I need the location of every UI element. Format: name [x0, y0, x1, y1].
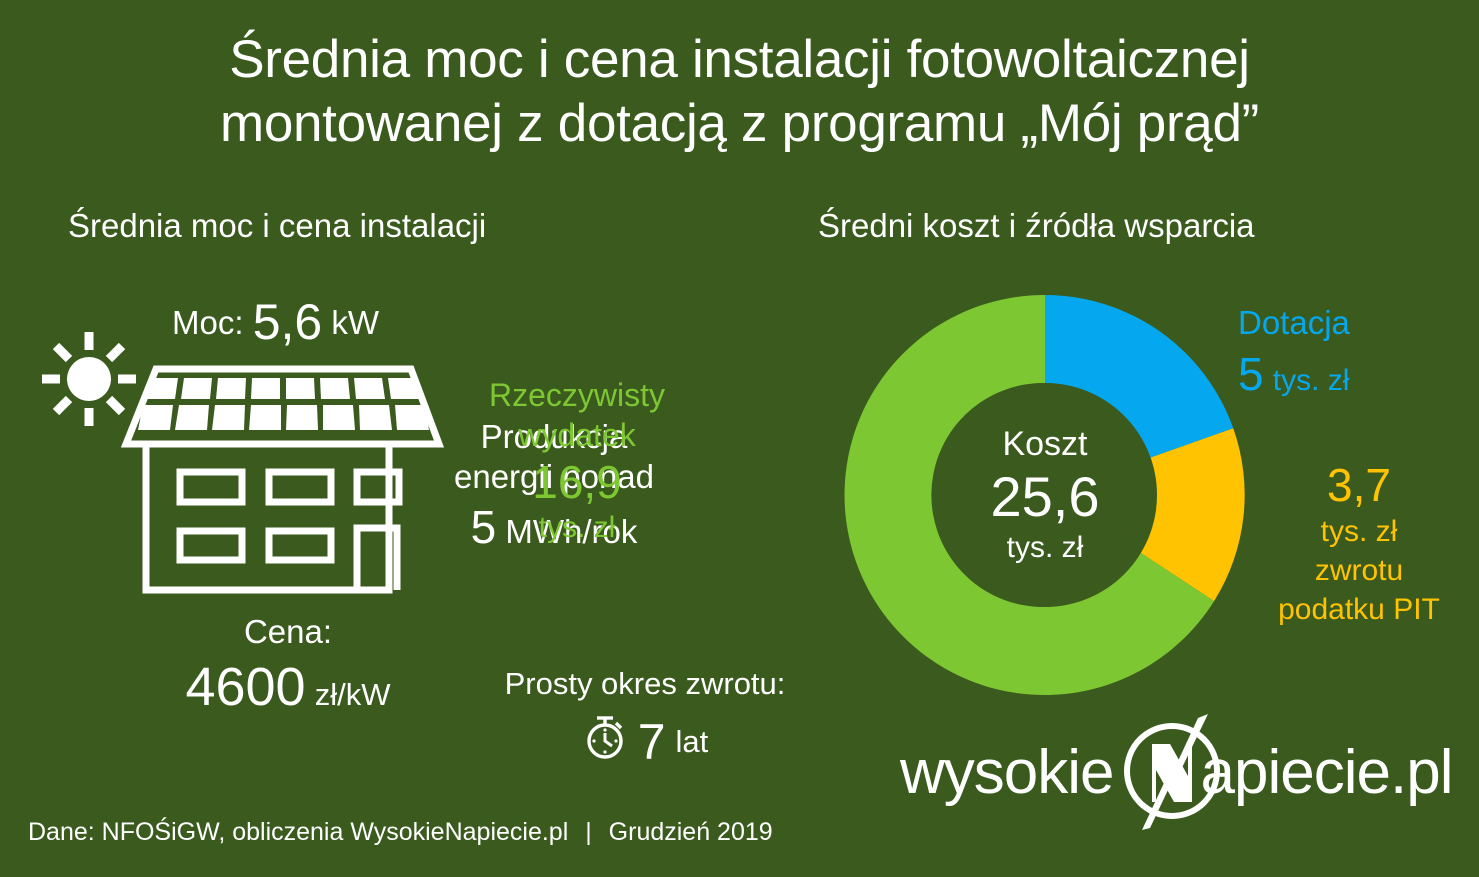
- infographic-canvas: Średnia moc i cena instalacji fotowoltai…: [0, 0, 1479, 877]
- payback-unit: lat: [676, 721, 709, 763]
- price-label: Cena:: [244, 613, 332, 650]
- callout-grant-label: Dotacja: [1238, 304, 1350, 341]
- window-upper-1: [180, 472, 242, 502]
- callout-pit-line-3: podatku PIT: [1278, 593, 1440, 626]
- footer-source: Dane: NFOŚiGW, obliczenia WysokieNapieci…: [28, 818, 773, 847]
- callout-grant-value: 5: [1238, 348, 1264, 400]
- payback-label: Prosty okres zwrotu:: [505, 666, 786, 701]
- price-unit: zł/kW: [315, 677, 391, 712]
- callout-actual-line-2: wydatek: [518, 417, 635, 453]
- power-label: Moc:: [172, 304, 244, 341]
- house-body: [146, 444, 389, 590]
- callout-actual-value: 16,9: [477, 455, 677, 509]
- power-stat: Moc: 5,6 kW: [172, 297, 379, 347]
- footer-source-text: Dane: NFOŚiGW, obliczenia WysokieNapieci…: [28, 818, 568, 846]
- payback-value-row: 7 lat: [500, 711, 790, 772]
- window-lower-1: [180, 531, 242, 560]
- callout-zwrot-podatku-pit: 3,7 tys. zł zwrotu podatku PIT: [1248, 458, 1470, 629]
- callout-pit-value: 3,7: [1248, 458, 1470, 512]
- wysokienapiecie-logo[interactable]: wysokie apiecie.pl: [900, 722, 1460, 822]
- logo-text-after: apiecie.pl: [1201, 737, 1453, 808]
- stopwatch-icon: [582, 711, 628, 772]
- page-title: Średnia moc i cena instalacji fotowoltai…: [0, 28, 1479, 156]
- callout-pit-line-2: zwrotu: [1315, 554, 1403, 587]
- donut-hole: [933, 383, 1157, 607]
- callout-actual-unit: tys. zł: [477, 509, 677, 547]
- title-line-1: Średnia moc i cena instalacji fotowoltai…: [0, 28, 1479, 92]
- window-upper-3: [357, 472, 399, 502]
- payback-value: 7: [638, 717, 666, 767]
- solar-panel-grid: [138, 378, 429, 430]
- sun-icon: [42, 332, 136, 426]
- callout-grant-value-row: 5 tys. zł: [1238, 348, 1350, 407]
- price-value-row: 4600 zł/kW: [148, 656, 428, 726]
- callout-dotacja: Dotacja 5 tys. zł: [1238, 302, 1350, 407]
- house-with-solar-panels-illustration: [34, 322, 454, 612]
- window-upper-2: [269, 472, 331, 502]
- power-value: 5,6: [253, 294, 323, 350]
- callout-actual-line-1: Rzeczywisty: [489, 377, 665, 413]
- title-line-2: montowanej z dotacją z programu „Mój prą…: [0, 92, 1479, 156]
- section-heading-right: Średni koszt i źródła wsparcia: [818, 207, 1255, 245]
- power-unit: kW: [331, 304, 379, 341]
- price-stat: Cena: 4600 zł/kW: [148, 610, 428, 726]
- window-lower-2: [269, 531, 331, 560]
- price-value: 4600: [185, 657, 305, 717]
- lightning-n-icon: [1112, 714, 1232, 830]
- payback-stat: Prosty okres zwrotu:: [500, 663, 790, 772]
- cost-donut-chart: Koszt 25,6 tys. zł: [830, 280, 1260, 710]
- callout-rzeczywisty-wydatek: Rzeczywisty wydatek 16,9 tys. zł: [477, 375, 677, 547]
- footer-separator: |: [575, 818, 602, 846]
- callout-pit-line-1: tys. zł: [1321, 515, 1398, 548]
- callout-grant-unit: tys. zł: [1273, 364, 1350, 397]
- logo-text-before: wysokie: [900, 737, 1114, 808]
- footer-date: Grudzień 2019: [609, 818, 773, 846]
- section-heading-left: Średnia moc i cena instalacji: [68, 207, 486, 245]
